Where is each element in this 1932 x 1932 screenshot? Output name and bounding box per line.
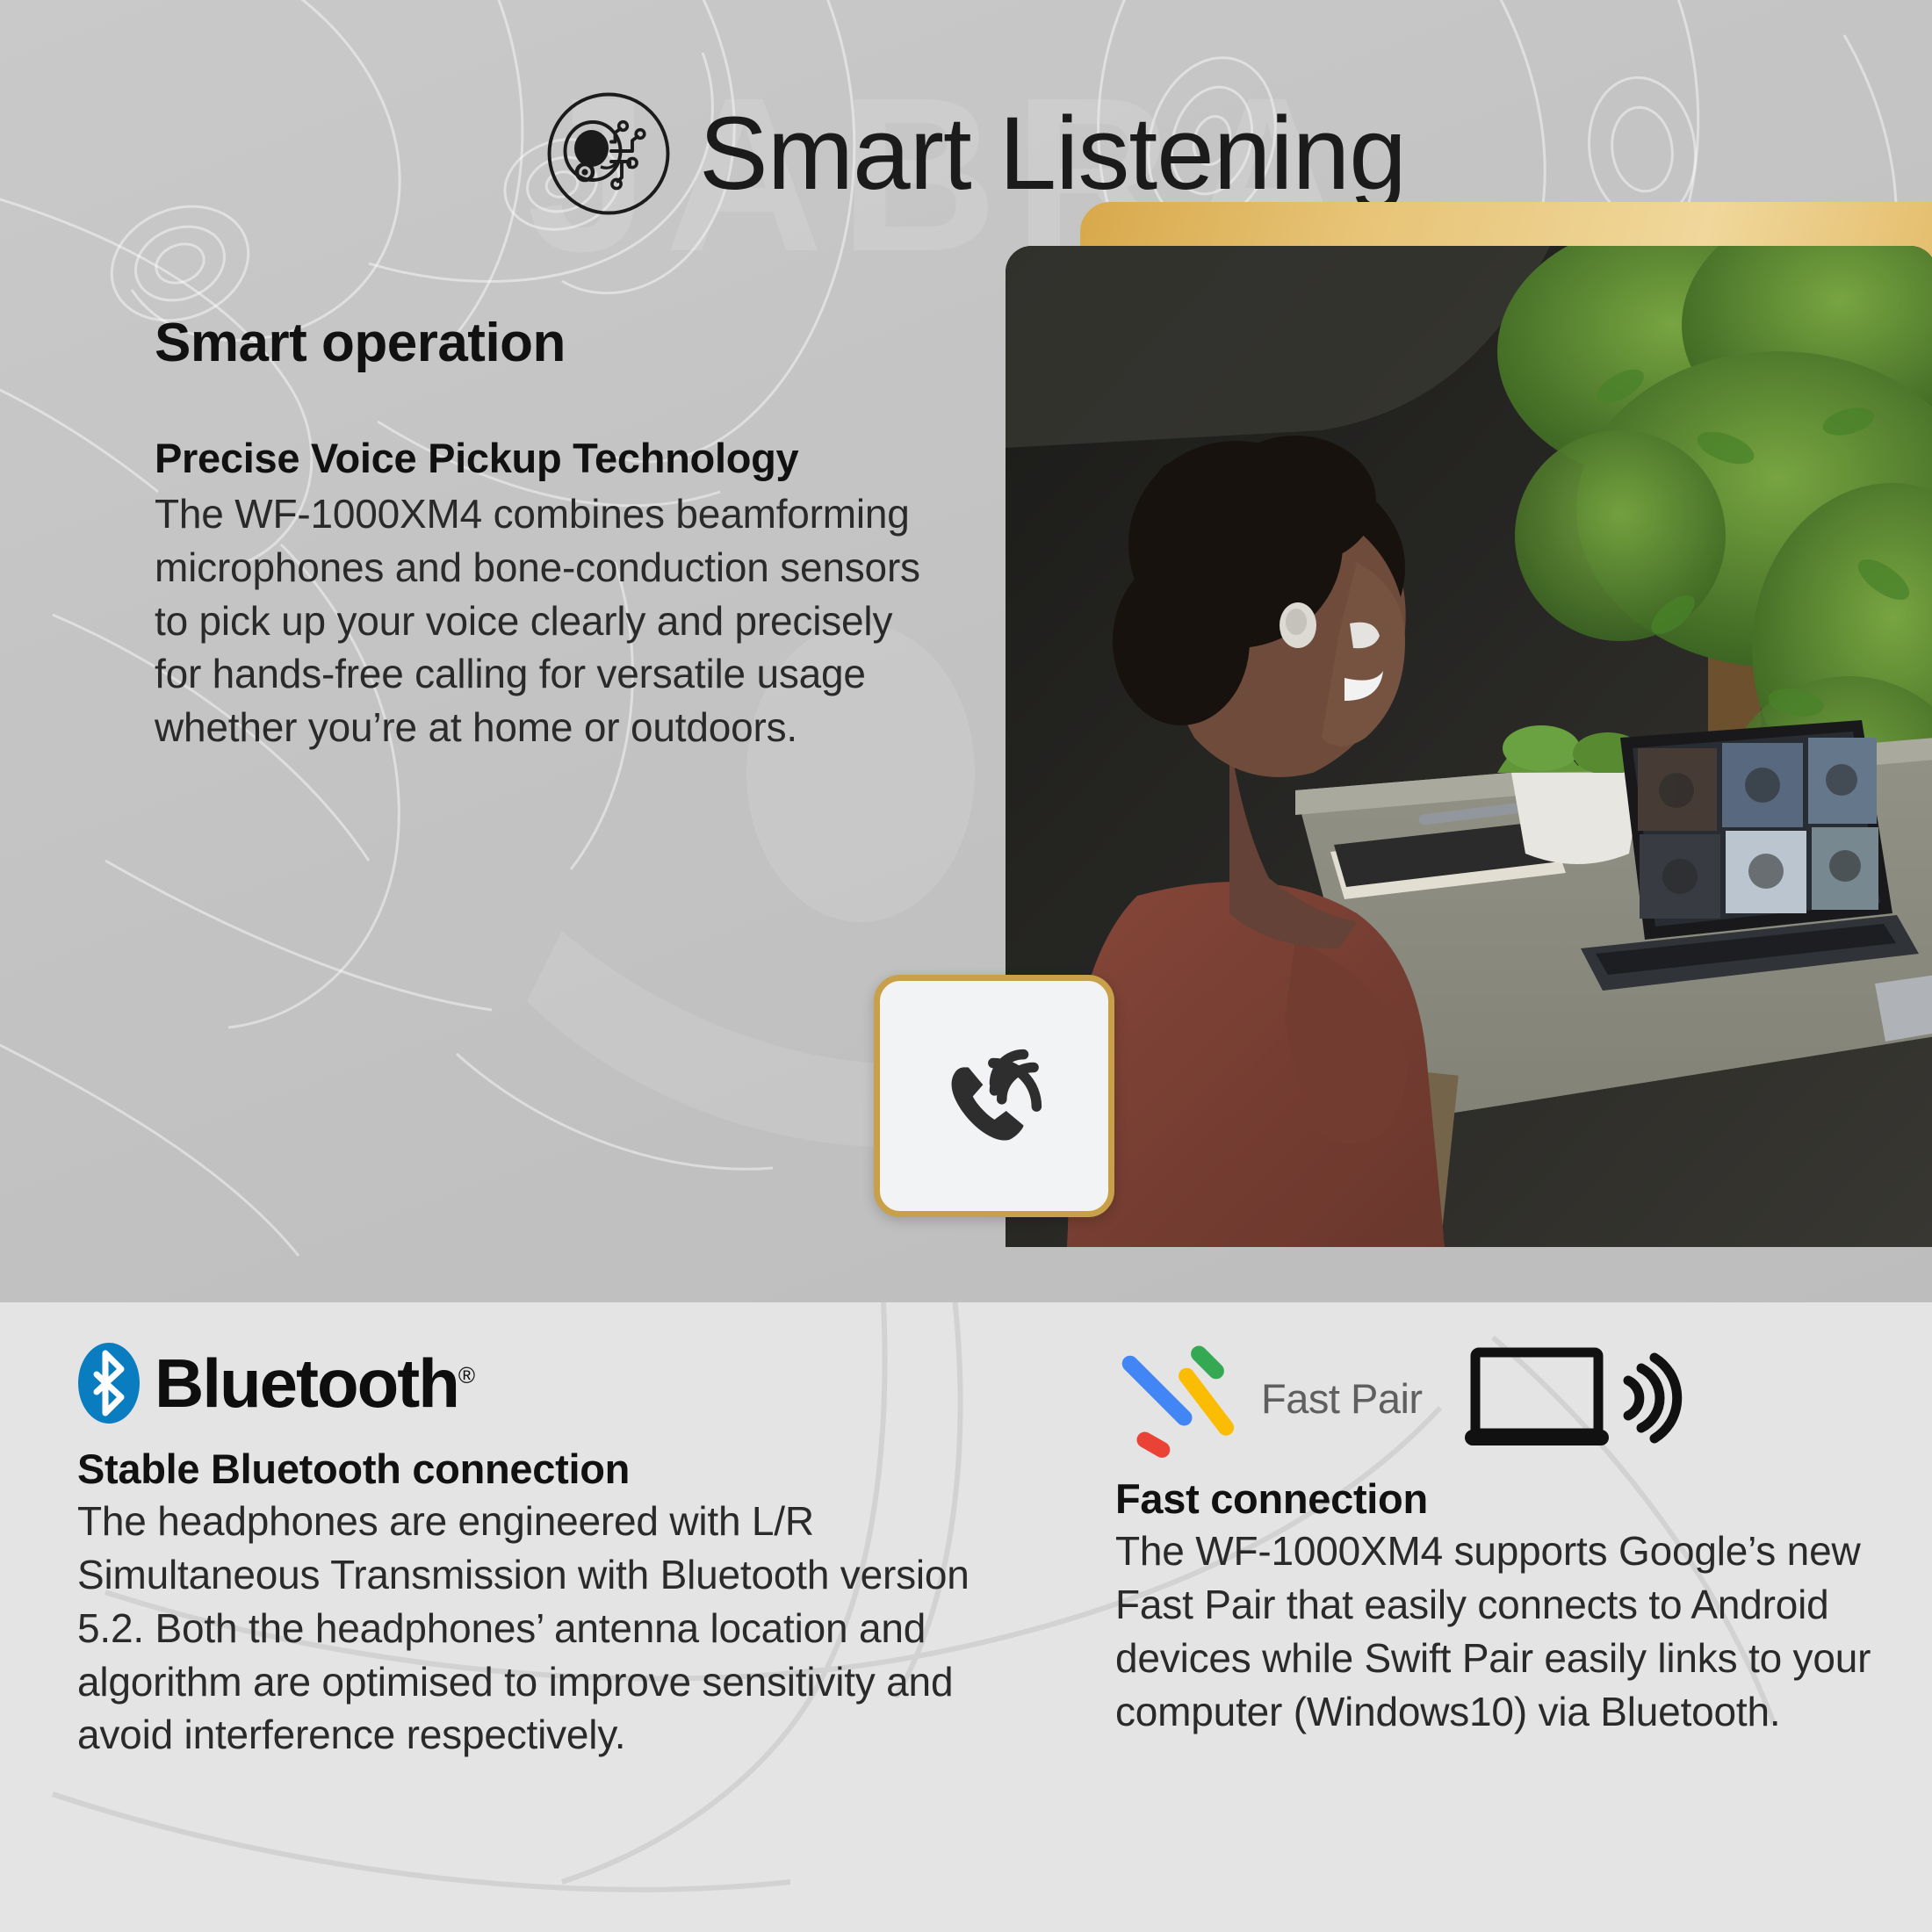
registered-mark: ®	[458, 1362, 475, 1388]
feature-title: Precise Voice Pickup Technology	[155, 435, 927, 482]
bluetooth-wordmark: Bluetooth®	[155, 1349, 475, 1417]
fastpair-logo-row: Fast Pair	[1115, 1341, 1879, 1455]
bluetooth-icon	[77, 1341, 141, 1425]
left-text-column: Smart operation Precise Voice Pickup Tec…	[155, 314, 927, 754]
fastpair-label: Fast Pair	[1261, 1374, 1423, 1423]
laptop-wireless-icon	[1461, 1345, 1685, 1451]
header: Smart Listening	[543, 88, 1406, 220]
bluetooth-title: Stable Bluetooth connection	[77, 1445, 982, 1493]
lifestyle-photo	[1006, 246, 1932, 1247]
bluetooth-body: The headphones are engineered with L/R S…	[77, 1495, 982, 1762]
top-section: JABRA	[0, 0, 1932, 1302]
smart-listening-circuit-earbud-icon	[543, 88, 674, 220]
fastpair-body: The WF-1000XM4 supports Google’s new Fas…	[1115, 1525, 1879, 1738]
feature-body: The WF-1000XM4 combines beamforming micr…	[155, 487, 927, 754]
call-badge	[874, 975, 1114, 1217]
google-fast-pair-icon	[1115, 1337, 1238, 1460]
bluetooth-column: Bluetooth® Stable Bluetooth connection T…	[77, 1341, 982, 1762]
infographic-page: JABRA	[0, 0, 1932, 1932]
photo-block	[1006, 281, 1932, 1302]
page-title: Smart Listening	[699, 102, 1406, 205]
phone-call-waves-icon	[922, 1024, 1067, 1169]
fastpair-title: Fast connection	[1115, 1474, 1879, 1523]
fastpair-column: Fast Pair Fast connection The WF-1000XM4…	[1115, 1341, 1879, 1738]
section-title: Smart operation	[155, 314, 927, 371]
bluetooth-wordmark-text: Bluetooth	[155, 1344, 458, 1422]
bottom-section: Bluetooth® Stable Bluetooth connection T…	[0, 1302, 1932, 1932]
bluetooth-logo: Bluetooth®	[77, 1341, 982, 1425]
